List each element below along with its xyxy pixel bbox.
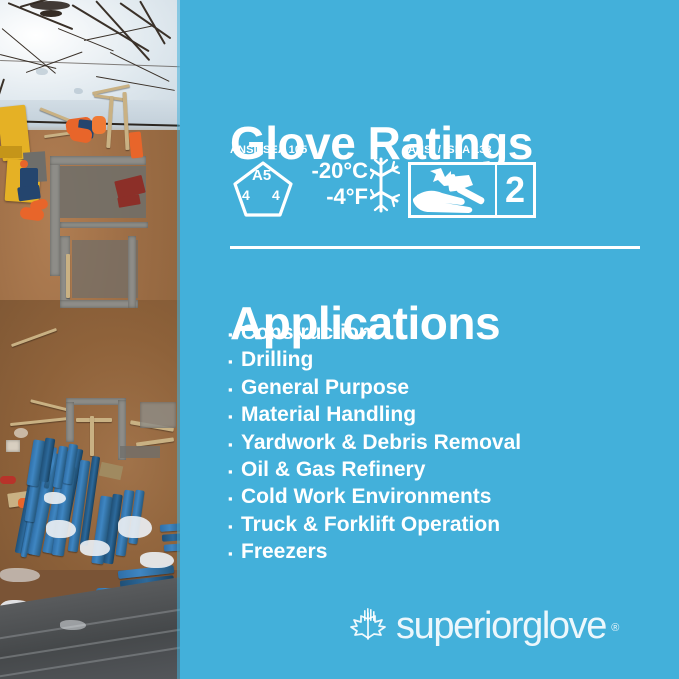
logo-wordmark-text: superiorglove bbox=[396, 605, 606, 647]
photo-lumber bbox=[90, 416, 94, 456]
photo-snow-patch bbox=[140, 552, 174, 568]
aerial-construction-site-photo bbox=[0, 0, 180, 679]
bullet-icon: ▪ bbox=[228, 514, 241, 539]
list-item-label: Material Handling bbox=[241, 402, 416, 427]
photo-hard-hat bbox=[20, 160, 28, 168]
list-item: ▪ Material Handling bbox=[228, 402, 521, 429]
temperature-fahrenheit-value: -4°F bbox=[300, 184, 368, 210]
list-item: ▪ Drilling bbox=[228, 347, 521, 374]
photo-concrete-form bbox=[66, 402, 74, 442]
list-item: ▪ Freezers bbox=[228, 539, 521, 566]
photo-excavator-arm bbox=[0, 146, 22, 158]
photo-snow-patch bbox=[80, 540, 110, 556]
maple-leaf-glove-icon bbox=[348, 605, 390, 647]
photo-concrete-pad bbox=[140, 402, 176, 428]
ansi-isea-138-label: ANSI / ISEA 138 bbox=[408, 144, 492, 156]
applications-list: ▪ Construction ▪ Drilling ▪ General Purp… bbox=[228, 320, 521, 567]
photo-snow-patch bbox=[60, 620, 86, 630]
photo-snow-speck bbox=[36, 68, 48, 75]
photo-road bbox=[0, 577, 180, 679]
list-item-label: General Purpose bbox=[241, 375, 409, 400]
bullet-icon: ▪ bbox=[228, 377, 241, 402]
list-item-label: Oil & Gas Refinery bbox=[241, 457, 425, 482]
list-item-label: Freezers bbox=[241, 539, 327, 564]
snowflake-icon bbox=[370, 156, 400, 214]
impact-level-value: 2 bbox=[497, 165, 533, 215]
photo-worker-vest bbox=[92, 116, 106, 134]
list-item: ▪ Yardwork & Debris Removal bbox=[228, 430, 521, 457]
list-item-label: Cold Work Environments bbox=[241, 484, 491, 509]
impact-rating-badge: 2 bbox=[408, 162, 536, 218]
abrasion-level-right-value: 4 bbox=[272, 188, 280, 203]
bullet-icon: ▪ bbox=[228, 459, 241, 484]
photo-debris bbox=[6, 440, 20, 452]
photo-concrete-form bbox=[60, 300, 138, 308]
list-item-label: Construction bbox=[241, 320, 372, 345]
list-item: ▪ Construction bbox=[228, 320, 521, 347]
photo-snow-patch bbox=[118, 516, 152, 538]
photo-concrete-pad bbox=[120, 446, 160, 458]
abrasion-level-left-value: 4 bbox=[242, 188, 250, 203]
bullet-icon: ▪ bbox=[228, 349, 241, 374]
list-item: ▪ Cold Work Environments bbox=[228, 484, 521, 511]
bullet-icon: ▪ bbox=[228, 322, 241, 347]
photo-snow-patch bbox=[44, 492, 66, 504]
bullet-icon: ▪ bbox=[228, 432, 241, 457]
section-divider bbox=[230, 246, 640, 249]
photo-orange-equipment bbox=[129, 131, 144, 158]
superiorglove-logo: superiorglove ® bbox=[348, 602, 606, 650]
temperature-rating: -20°C -4°F bbox=[300, 158, 368, 210]
list-item-label: Yardwork & Debris Removal bbox=[241, 430, 521, 455]
logo-wordmark: superiorglove ® bbox=[396, 606, 606, 646]
photo-branch-cluster bbox=[40, 10, 62, 17]
ansi-isea-105-label: ANSI/ISEA 105 bbox=[230, 144, 307, 156]
photo-concrete-form bbox=[60, 222, 148, 228]
photo-concrete-form bbox=[66, 398, 126, 405]
bullet-icon: ▪ bbox=[228, 486, 241, 511]
photo-concrete-form bbox=[128, 236, 136, 308]
list-item-label: Drilling bbox=[241, 347, 313, 372]
list-item: ▪ Oil & Gas Refinery bbox=[228, 457, 521, 484]
hand-hammer-impact-icon bbox=[411, 165, 495, 215]
cut-level-value: A5 bbox=[252, 168, 271, 183]
glove-ratings-row: ANSI/ISEA 105 A5 4 4 -20°C -4°F bbox=[228, 144, 568, 226]
pentagon-shape-icon: A5 4 4 bbox=[232, 160, 294, 218]
photo-snow-patch bbox=[46, 520, 76, 538]
list-item: ▪ General Purpose bbox=[228, 375, 521, 402]
bullet-icon: ▪ bbox=[228, 541, 241, 566]
list-item-label: Truck & Forklift Operation bbox=[241, 512, 500, 537]
list-item: ▪ Truck & Forklift Operation bbox=[228, 512, 521, 539]
temperature-celsius-value: -20°C bbox=[300, 158, 368, 184]
registered-trademark-icon: ® bbox=[611, 608, 618, 648]
photo-debris bbox=[0, 476, 16, 484]
photo-concrete-form bbox=[50, 156, 60, 276]
product-feature-graphic: Glove Ratings ANSI/ISEA 105 A5 4 4 -20°C… bbox=[0, 0, 679, 679]
bullet-icon: ▪ bbox=[228, 404, 241, 429]
photo-snow-patch bbox=[0, 568, 40, 582]
photo-lumber bbox=[66, 254, 70, 298]
photo-lumber bbox=[76, 418, 112, 422]
photo-branch-cluster bbox=[30, 1, 70, 10]
photo-gravel bbox=[14, 428, 28, 438]
info-panel: Glove Ratings ANSI/ISEA 105 A5 4 4 -20°C… bbox=[180, 0, 679, 679]
photo-snow-speck bbox=[74, 88, 83, 94]
